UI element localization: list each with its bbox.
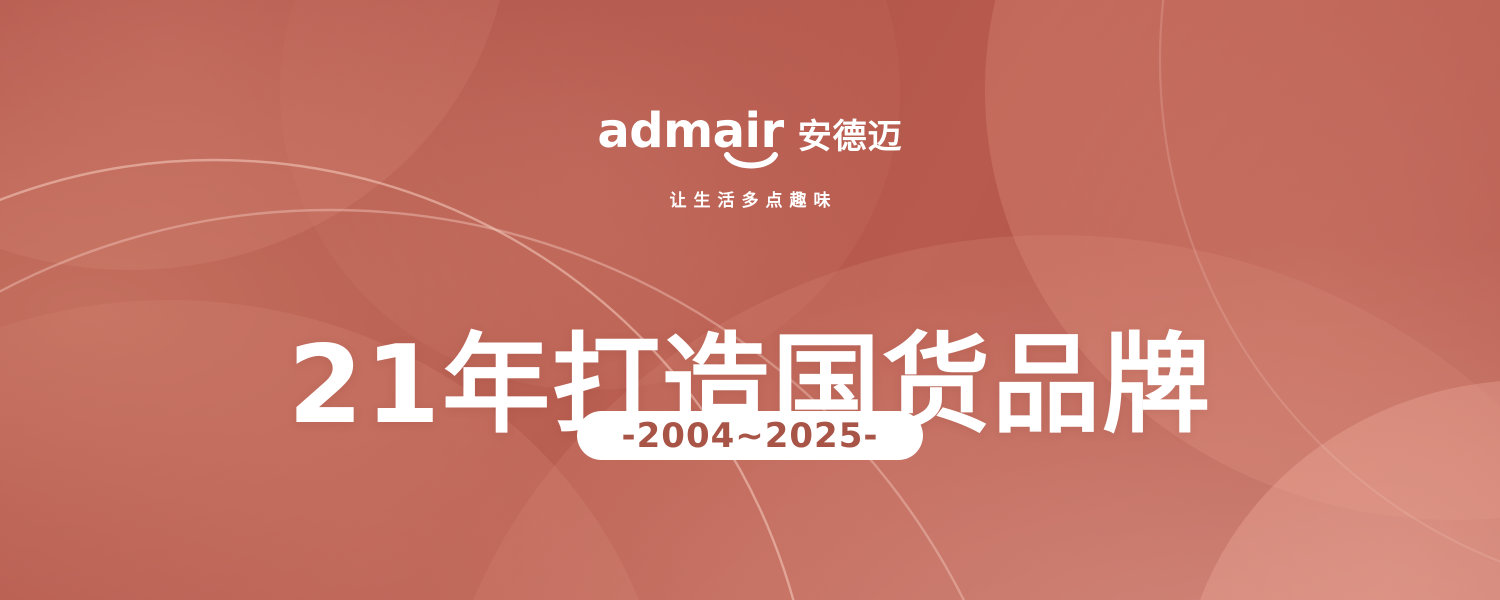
logo-chinese-name: 安德迈 (798, 106, 903, 162)
year-range-badge: -2004~2025- (577, 411, 923, 460)
banner-content: admair 安德迈 让生活多点趣味 21年打造国货品牌 -2004~2025- (0, 0, 1500, 600)
brand-tagline: 让生活多点趣味 (0, 186, 1500, 211)
smile-curve-icon (724, 152, 778, 172)
logo-wordmark: admair (597, 106, 783, 156)
brand-logo: admair 安德迈 (0, 106, 1500, 162)
badge-row: -2004~2025- (0, 411, 1500, 460)
promo-banner: admair 安德迈 让生活多点趣味 21年打造国货品牌 -2004~2025- (0, 0, 1500, 600)
logo-wordmark-wrap: admair (597, 106, 783, 156)
